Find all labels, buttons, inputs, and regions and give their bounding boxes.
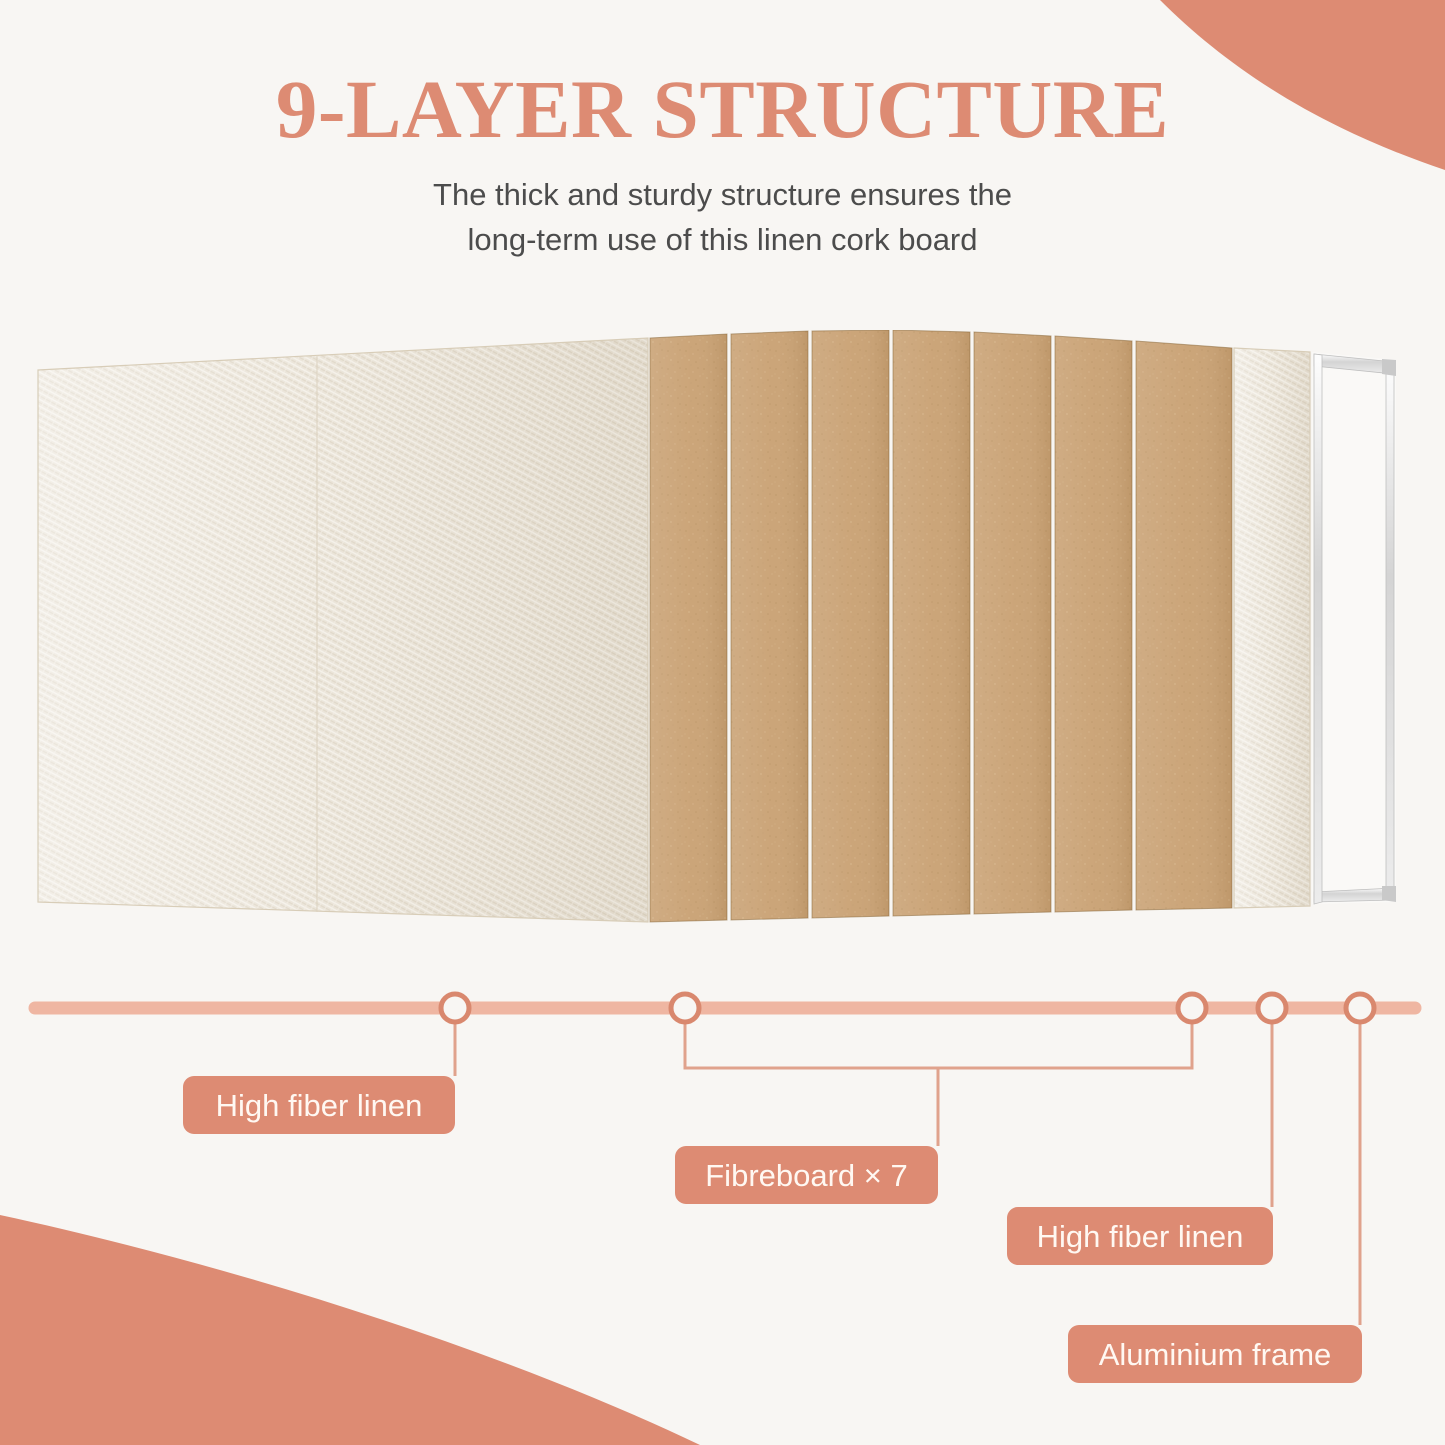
timeline-dot[interactable] — [1178, 994, 1206, 1022]
callout-label-high-fiber-linen-back[interactable]: High fiber linen — [1007, 1207, 1273, 1265]
layer-fibreboard-6 — [1055, 336, 1132, 912]
infographic-canvas: 9-LAYER STRUCTURE The thick and sturdy s… — [0, 0, 1445, 1445]
layer-fibreboard-3 — [812, 330, 889, 918]
page-subtitle: The thick and sturdy structure ensures t… — [0, 153, 1445, 263]
subtitle-line-2: long-term use of this linen cork board — [0, 218, 1445, 263]
timeline-dot[interactable] — [441, 994, 469, 1022]
layer-linen-front — [38, 338, 648, 922]
layer-fibreboard-4 — [893, 330, 970, 916]
layer-aluminium-frame — [1312, 352, 1396, 904]
layer-fibreboard-7 — [1136, 341, 1232, 910]
callout-label-aluminium-frame[interactable]: Aluminium frame — [1068, 1325, 1362, 1383]
header: 9-LAYER STRUCTURE The thick and sturdy s… — [0, 0, 1445, 263]
callout-label-fibreboard[interactable]: Fibreboard × 7 — [675, 1146, 938, 1204]
callout-label-high-fiber-linen-front[interactable]: High fiber linen — [183, 1076, 455, 1134]
layer-linen-back — [1234, 348, 1310, 908]
layer-stack-illustration — [0, 330, 1445, 950]
timeline-dot[interactable] — [1346, 994, 1374, 1022]
layer-fibreboard-2 — [731, 331, 808, 920]
timeline-dot[interactable] — [1258, 994, 1286, 1022]
page-title: 9-LAYER STRUCTURE — [0, 0, 1445, 153]
subtitle-line-1: The thick and sturdy structure ensures t… — [0, 173, 1445, 218]
layer-fibreboard-5 — [974, 332, 1051, 914]
timeline-dot[interactable] — [671, 994, 699, 1022]
layer-fibreboard-1 — [650, 334, 727, 922]
leader-line-2 — [685, 1022, 1192, 1068]
